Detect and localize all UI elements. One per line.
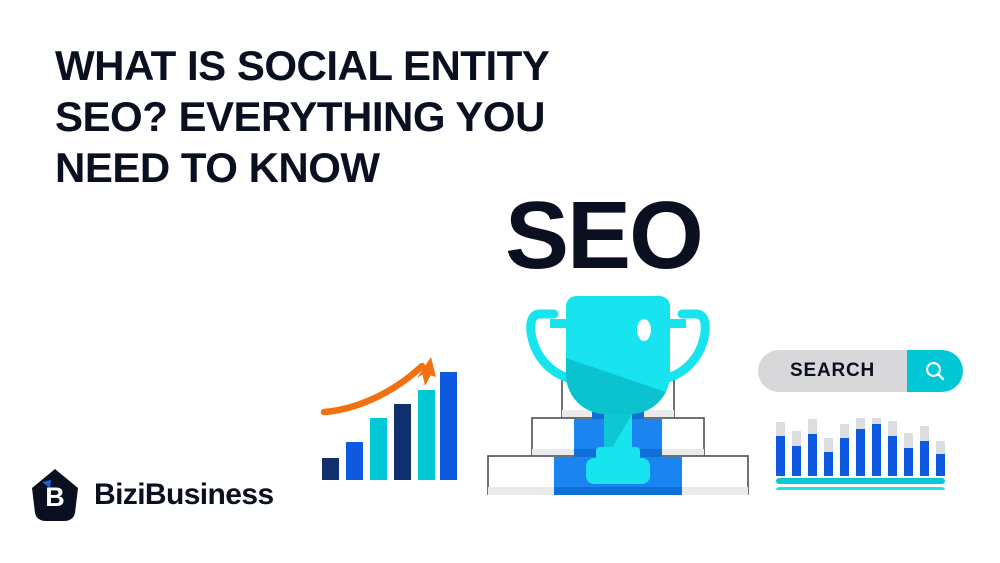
seo-wordmark: SEO (505, 188, 702, 284)
analytics-bar-1 (776, 422, 785, 476)
analytics-bar-2 (792, 431, 801, 476)
analytics-bar-3 (808, 419, 817, 476)
analytics-bar-4 (824, 438, 833, 476)
poster-canvas: WHAT IS SOCIAL ENTITY SEO? EVERYTHING YO… (0, 0, 1000, 563)
trophy-base-block (586, 458, 650, 484)
brand-logo[interactable]: B BiziBusiness (28, 468, 274, 522)
growth-bar-6 (440, 372, 457, 480)
search-bar[interactable]: SEARCH (758, 350, 963, 392)
growth-chart-svg (318, 352, 458, 480)
page-title: WHAT IS SOCIAL ENTITY SEO? EVERYTHING YO… (55, 40, 655, 193)
analytics-chart-svg (776, 418, 946, 490)
trophy-highlight (637, 319, 651, 341)
growth-bar-chart (318, 352, 458, 480)
logo-wordmark: BiziBusiness (94, 480, 274, 510)
trophy-svg (478, 292, 758, 540)
growth-bar-1 (322, 458, 339, 480)
analytics-bar-6 (856, 418, 865, 476)
growth-bar-4 (394, 404, 411, 480)
analytics-bar-chart (776, 418, 946, 490)
analytics-bar-11 (936, 441, 945, 476)
growth-bar-3 (370, 418, 387, 480)
headline-line-2: SEO? EVERYTHING YOU (55, 91, 655, 142)
analytics-rule-teal (776, 478, 945, 484)
analytics-bar-5 (840, 424, 849, 476)
search-input[interactable]: SEARCH (790, 360, 875, 382)
trophy-illustration (478, 292, 758, 540)
logo-mark-icon: B (28, 468, 82, 522)
growth-bar-5 (418, 390, 435, 480)
search-icon (923, 359, 947, 383)
analytics-bar-7 (872, 418, 881, 476)
logo-pentagon-icon: B (28, 468, 82, 522)
analytics-rule-cyan (776, 487, 945, 490)
growth-bar-2 (346, 442, 363, 480)
headline-line-1: WHAT IS SOCIAL ENTITY (55, 40, 655, 91)
analytics-bars (776, 418, 945, 476)
logo-mark-letter: B (45, 482, 65, 512)
search-button[interactable] (907, 350, 963, 392)
analytics-bar-9 (904, 433, 913, 476)
analytics-bar-8 (888, 421, 897, 476)
analytics-bar-10 (920, 426, 929, 476)
